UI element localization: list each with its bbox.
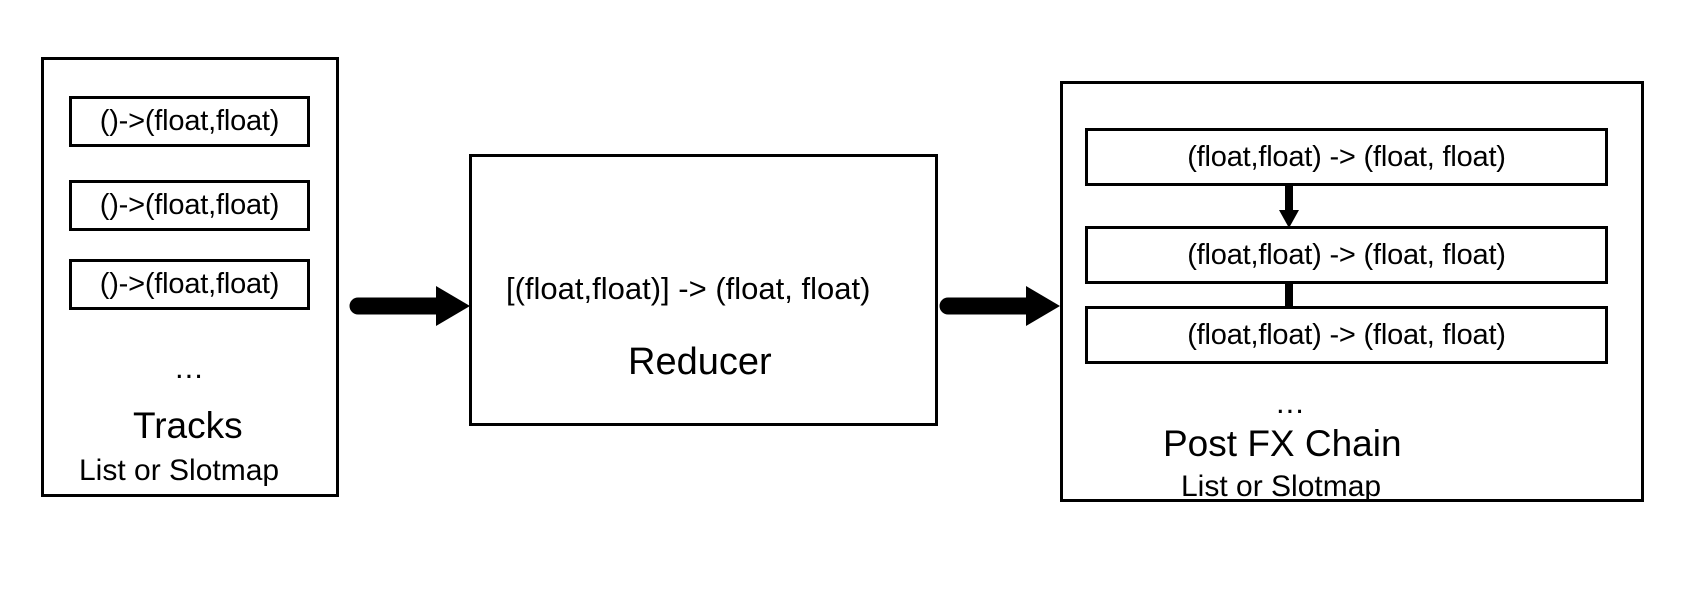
track-item-3-label: ()->(float,float)	[100, 270, 280, 299]
track-item-2[interactable]: ()->(float,float)	[69, 180, 310, 231]
postfx-item-3[interactable]: (float,float) -> (float, float)	[1085, 306, 1608, 364]
arrow-fx1-to-fx2	[1274, 184, 1304, 230]
postfx-item-3-label: (float,float) -> (float, float)	[1187, 321, 1506, 350]
postfx-panel-subtitle: List or Slotmap	[1181, 472, 1381, 502]
postfx-item-2-label: (float,float) -> (float, float)	[1187, 241, 1506, 270]
tracks-panel-title: Tracks	[133, 407, 243, 444]
tracks-panel-subtitle: List or Slotmap	[79, 456, 279, 486]
reducer-panel-title: Reducer	[628, 343, 772, 381]
diagram-canvas: ()->(float,float) ()->(float,float) ()->…	[0, 0, 1694, 600]
track-item-1[interactable]: ()->(float,float)	[69, 96, 310, 147]
track-item-1-label: ()->(float,float)	[100, 107, 280, 136]
track-item-2-label: ()->(float,float)	[100, 191, 280, 220]
arrow-reducer-to-postfx	[942, 282, 1064, 330]
tracks-ellipsis: ...	[175, 352, 204, 383]
reducer-signature: [(float,float)] -> (float, float)	[506, 273, 870, 304]
arrow-tracks-to-reducer	[352, 282, 474, 330]
postfx-ellipsis: ...	[1276, 387, 1305, 418]
track-item-3[interactable]: ()->(float,float)	[69, 259, 310, 310]
postfx-item-1[interactable]: (float,float) -> (float, float)	[1085, 128, 1608, 186]
postfx-item-1-label: (float,float) -> (float, float)	[1187, 143, 1506, 172]
postfx-panel-title: Post FX Chain	[1163, 425, 1402, 462]
postfx-item-2[interactable]: (float,float) -> (float, float)	[1085, 226, 1608, 284]
